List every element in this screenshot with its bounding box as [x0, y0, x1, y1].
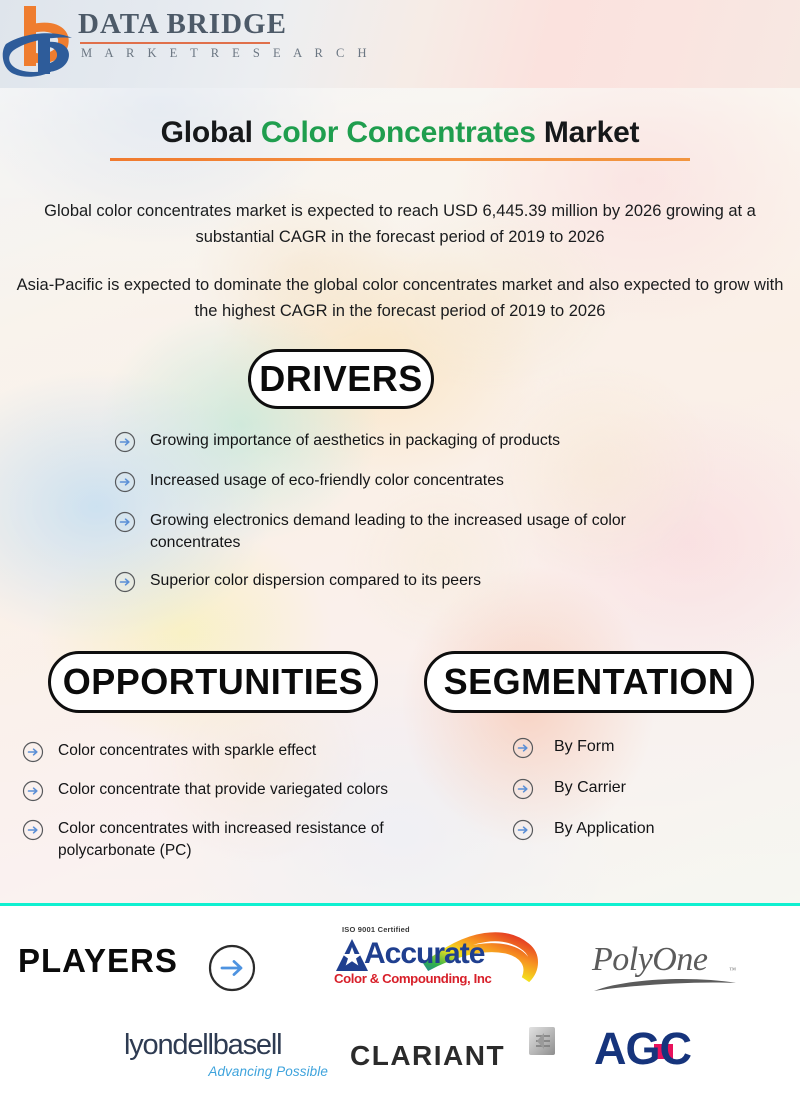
drivers-heading-pill: DRIVERS — [248, 349, 434, 409]
infographic-page: DATA BRIDGE M A R K E T R E S E A R C H … — [0, 0, 800, 1107]
arrow-right-circle-icon — [512, 737, 534, 759]
segmentation-list: By Form By Carrier By Application — [512, 736, 792, 859]
list-item-label: Color concentrates with sparkle effect — [58, 740, 316, 762]
lyondellbasell-wordmark: lyondellbasell — [124, 1030, 281, 1062]
list-item: Color concentrates with increased resist… — [22, 818, 492, 861]
logo-agc: AGC — [594, 1026, 730, 1080]
intro-paragraph-1: Global color concentrates market is expe… — [0, 198, 800, 250]
list-item-label: Increased usage of eco-friendly color co… — [150, 470, 504, 492]
logo-accurate: ISO 9001 Certified Accurate Color & Comp… — [330, 925, 542, 997]
arrow-right-circle-icon — [114, 431, 136, 453]
list-item-label: Superior color dispersion compared to it… — [150, 570, 481, 592]
clariant-wordmark: CLARIANT — [350, 1042, 505, 1070]
arrow-right-circle-icon — [208, 944, 256, 992]
list-item: Color concentrates with sparkle effect — [22, 740, 492, 763]
agc-wordmark: AGC — [594, 1026, 691, 1071]
arrow-right-circle-icon — [114, 571, 136, 593]
players-label: PLAYERS — [18, 942, 178, 980]
intro-paragraphs: Global color concentrates market is expe… — [0, 198, 800, 324]
polyone-trademark: ™ — [729, 966, 736, 974]
page-title: Global Color Concentrates Market — [0, 116, 800, 150]
list-item-label: By Form — [554, 736, 614, 758]
segmentation-heading-pill: SEGMENTATION — [424, 651, 754, 713]
intro-paragraph-2: Asia-Pacific is expected to dominate the… — [0, 272, 800, 324]
brand-wordmark: DATA BRIDGE M A R K E T R E S E A R C H — [78, 10, 371, 61]
opportunities-heading-pill: OPPORTUNITIES — [48, 651, 378, 713]
brand-name: DATA BRIDGE — [78, 10, 371, 39]
title-underline — [110, 158, 690, 161]
list-item-label: Growing importance of aesthetics in pack… — [150, 430, 560, 452]
arrow-right-circle-icon — [22, 819, 44, 841]
brand-divider-rule — [80, 42, 270, 44]
list-item: By Carrier — [512, 777, 792, 800]
logo-polyone: PolyOne ™ — [592, 940, 738, 996]
list-item-label: Color concentrate that provide variegate… — [58, 779, 388, 801]
title-part-1: Global — [161, 116, 261, 149]
arrow-right-circle-icon — [114, 511, 136, 533]
logo-lyondellbasell: lyondellbasell Advancing Possible — [124, 1030, 328, 1088]
page-title-block: Global Color Concentrates Market — [0, 116, 800, 161]
arrow-right-circle-icon — [512, 778, 534, 800]
list-item: By Application — [512, 818, 792, 841]
opportunities-list: Color concentrates with sparkle effect C… — [22, 740, 492, 877]
clariant-square-icon — [528, 1026, 556, 1056]
header-bar: DATA BRIDGE M A R K E T R E S E A R C H — [0, 0, 800, 88]
list-item: Superior color dispersion compared to it… — [114, 570, 714, 593]
logo-clariant: CLARIANT — [350, 1026, 560, 1084]
list-item-label: Color concentrates with increased resist… — [58, 818, 458, 861]
arrow-right-circle-icon — [22, 741, 44, 763]
accurate-wordmark: Accurate — [364, 939, 484, 969]
arrow-right-circle-icon — [22, 780, 44, 802]
polyone-wordmark: PolyOne — [592, 940, 707, 979]
list-item: By Form — [512, 736, 792, 759]
list-item: Increased usage of eco-friendly color co… — [114, 470, 714, 493]
title-part-3: Market — [536, 116, 640, 149]
section-divider — [0, 903, 800, 906]
list-item-label: By Carrier — [554, 777, 626, 799]
data-bridge-b-logo-icon — [2, 2, 80, 82]
accurate-iso-text: ISO 9001 Certified — [342, 925, 410, 934]
list-item-label: Growing electronics demand leading to th… — [150, 510, 670, 553]
lyondellbasell-tagline: Advancing Possible — [208, 1064, 328, 1079]
accurate-subtitle: Color & Compounding, Inc — [334, 972, 491, 985]
list-item: Growing importance of aesthetics in pack… — [114, 430, 714, 453]
list-item: Color concentrate that provide variegate… — [22, 779, 492, 802]
arrow-right-circle-icon — [512, 819, 534, 841]
arrow-right-circle-icon — [114, 471, 136, 493]
list-item-label: By Application — [554, 818, 655, 840]
drivers-list: Growing importance of aesthetics in pack… — [114, 430, 714, 593]
list-item: Growing electronics demand leading to th… — [114, 510, 714, 553]
title-part-2: Color Concentrates — [261, 116, 536, 149]
brand-tagline: M A R K E T R E S E A R C H — [78, 46, 371, 61]
